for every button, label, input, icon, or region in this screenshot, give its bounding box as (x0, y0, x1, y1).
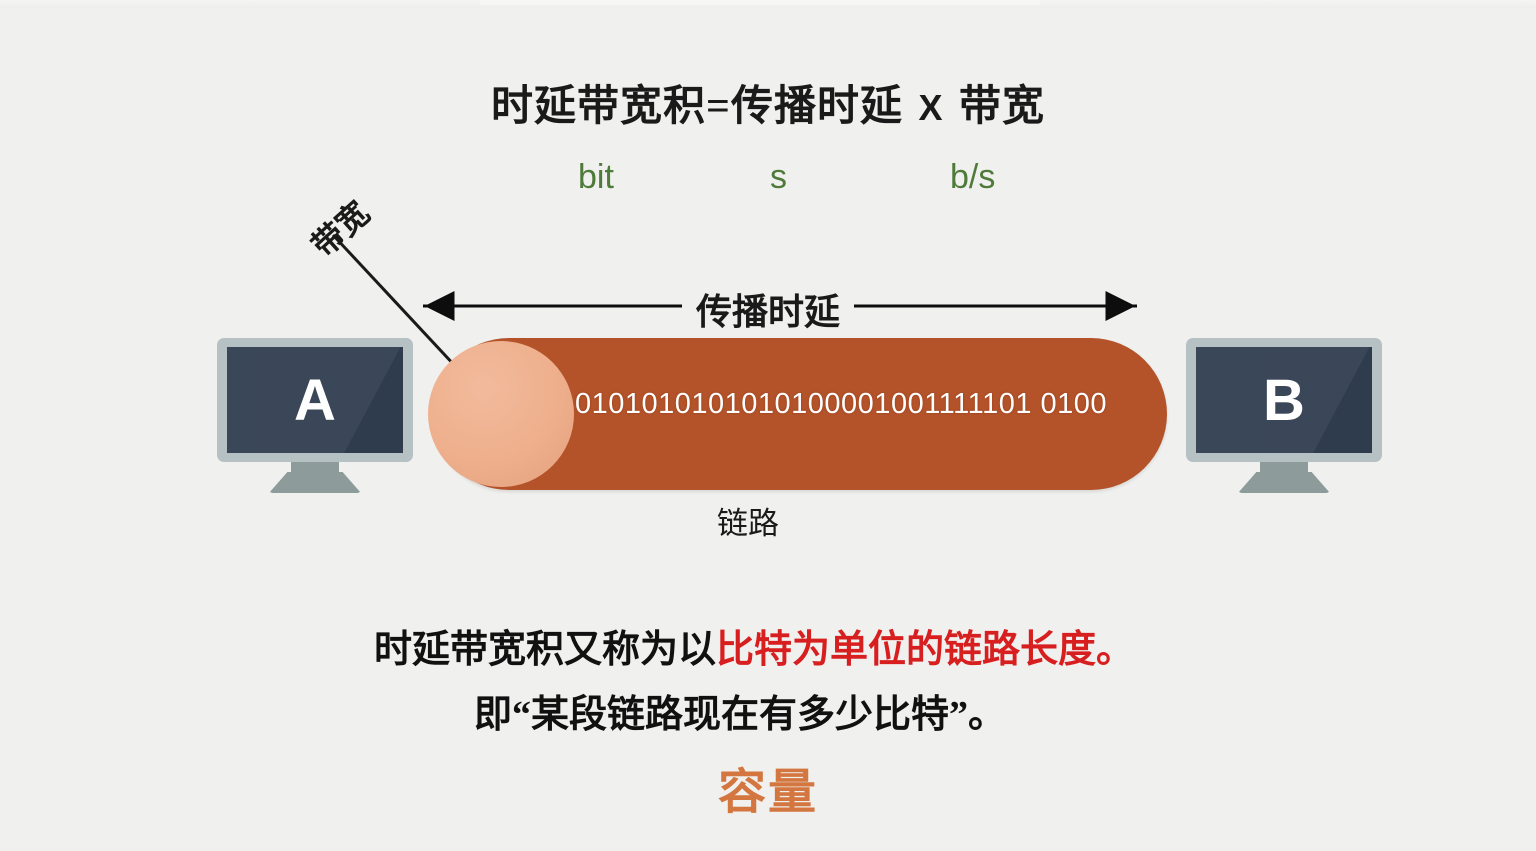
capacity-label: 容量 (0, 752, 1536, 822)
formula-middle-term: 传播时延 (731, 84, 903, 130)
unit-product: bit (578, 158, 614, 197)
formula-operator: X (914, 87, 947, 128)
formula-equals: = (706, 84, 731, 130)
slide-canvas: 时延带宽积=传播时延 X 带宽 bit s b/s 带宽 传播时延 (0, 0, 1536, 851)
host-b-screen: B (1196, 347, 1372, 453)
body-line-2: 即“某段链路现在有多少比特”。 (0, 683, 1508, 748)
formula-left-term: 时延带宽积 (491, 84, 706, 130)
formula-title: 时延带宽积=传播时延 X 带宽 (0, 72, 1536, 133)
bandwidth-circle (428, 341, 574, 487)
host-a-label: A (227, 347, 403, 453)
body-line-1: 时延带宽积又称为以比特为单位的链路长度。 (0, 618, 1522, 683)
unit-delay: s (770, 158, 787, 197)
host-b-label: B (1196, 347, 1372, 453)
body-text-block: 时延带宽积又称为以比特为单位的链路长度。 即“某段链路现在有多少比特”。 (0, 618, 1536, 749)
host-b-bezel: B (1186, 338, 1382, 462)
host-b-monitor: B (1186, 338, 1382, 488)
body-line-1-highlight: 比特为单位的链路长度。 (716, 629, 1134, 671)
unit-row: bit s b/s (0, 158, 1536, 204)
link-caption: 链路 (717, 506, 779, 541)
host-a-screen: A (227, 347, 403, 453)
host-a-monitor: A (217, 338, 413, 488)
host-a-stand-base (269, 472, 361, 493)
link-caption-wrap: 链路 (0, 498, 1536, 543)
unit-bandwidth: b/s (950, 158, 995, 197)
host-b-stand-base (1238, 472, 1330, 493)
formula-right-term: 带宽 (959, 84, 1045, 130)
propagation-delay-arrow-icon (415, 288, 1145, 324)
host-a-bezel: A (217, 338, 413, 462)
link-bitstream: 0101010101010100001001111101 0100 (575, 388, 1170, 421)
body-line-1-prefix: 时延带宽积又称为以 (374, 629, 716, 671)
